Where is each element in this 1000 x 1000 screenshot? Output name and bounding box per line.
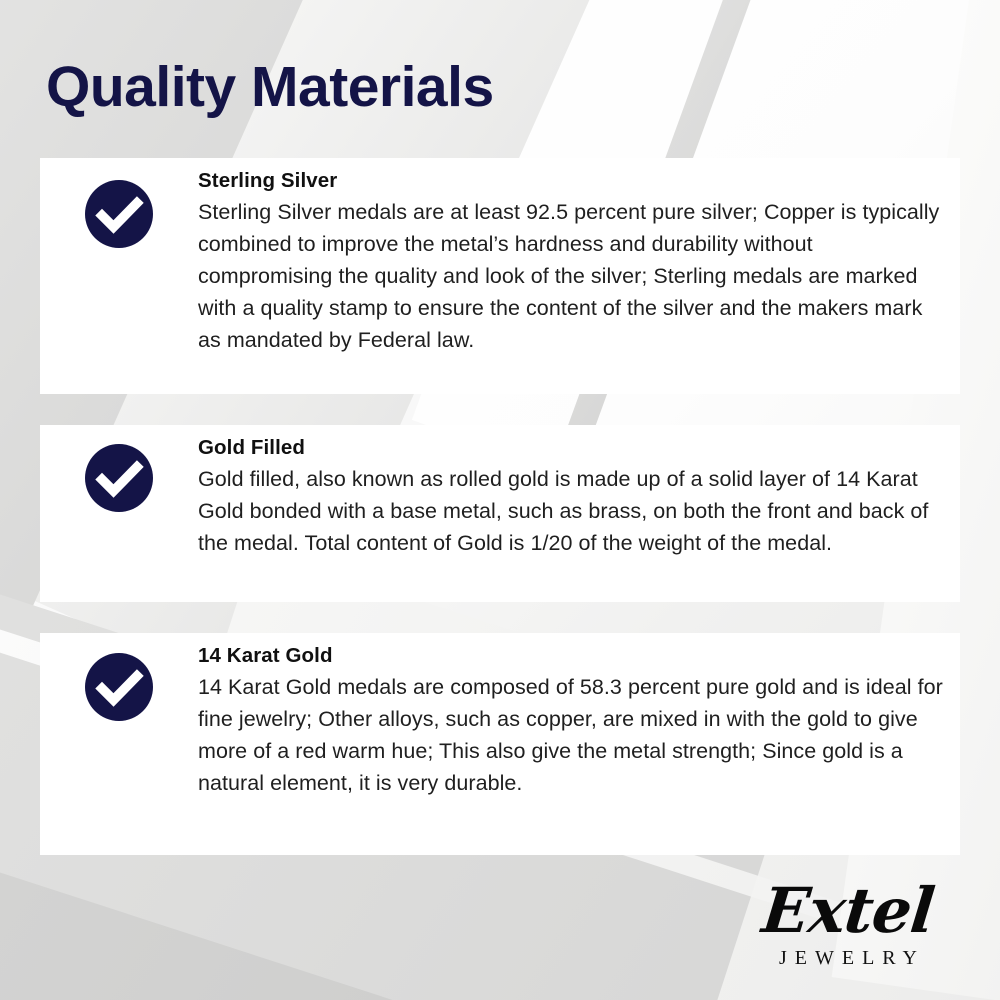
material-title: Sterling Silver bbox=[198, 167, 944, 195]
material-title: 14 Karat Gold bbox=[198, 642, 944, 670]
card-body: 14 Karat Gold 14 Karat Gold medals are c… bbox=[198, 633, 960, 813]
brand-tagline: JEWELRY bbox=[738, 948, 958, 968]
check-icon-wrap bbox=[40, 633, 198, 721]
check-circle-icon bbox=[85, 653, 153, 721]
material-card-sterling-silver: Sterling Silver Sterling Silver medals a… bbox=[40, 158, 960, 394]
card-body: Sterling Silver Sterling Silver medals a… bbox=[198, 158, 960, 370]
check-circle-icon bbox=[85, 444, 153, 512]
check-icon-wrap bbox=[40, 158, 198, 248]
material-card-14-karat-gold: 14 Karat Gold 14 Karat Gold medals are c… bbox=[40, 633, 960, 855]
quality-materials-infographic: Quality Materials Sterling Silver Sterli… bbox=[0, 0, 1000, 1000]
check-circle-icon bbox=[85, 180, 153, 248]
card-body: Gold Filled Gold filled, also known as r… bbox=[198, 425, 960, 573]
brand-name: Extel bbox=[735, 880, 962, 942]
brand-logo: Extel JEWELRY bbox=[738, 880, 958, 968]
page-title: Quality Materials bbox=[46, 56, 494, 119]
material-description: Sterling Silver medals are at least 92.5… bbox=[198, 196, 944, 356]
material-title: Gold Filled bbox=[198, 434, 944, 462]
check-icon-wrap bbox=[40, 425, 198, 512]
material-description: Gold filled, also known as rolled gold i… bbox=[198, 463, 944, 559]
material-description: 14 Karat Gold medals are composed of 58.… bbox=[198, 671, 944, 799]
material-card-gold-filled: Gold Filled Gold filled, also known as r… bbox=[40, 425, 960, 602]
